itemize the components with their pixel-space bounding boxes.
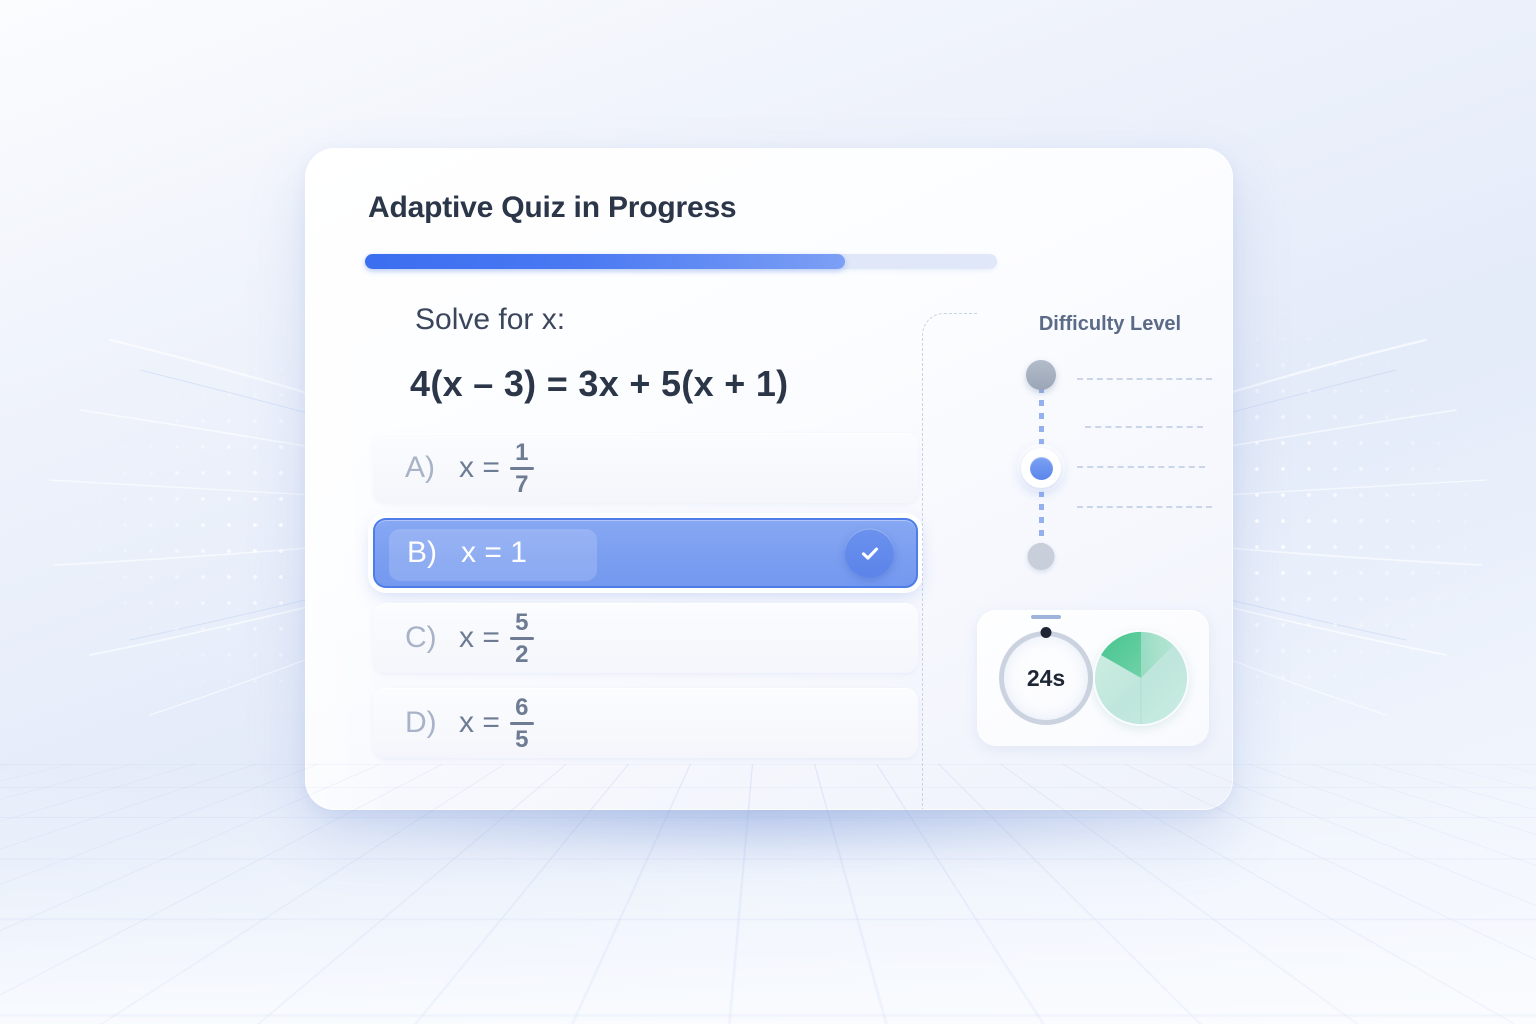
option-letter-a: A) bbox=[405, 451, 459, 485]
answer-options-list: A) x = 1 7 B) x = 1 bbox=[373, 433, 918, 773]
option-lhs-a: x = bbox=[459, 451, 500, 485]
answer-option-c[interactable]: C) x = 5 2 bbox=[373, 603, 918, 673]
difficulty-level-title: Difficulty Level bbox=[1010, 313, 1210, 336]
countdown-timer: 24s bbox=[999, 631, 1093, 725]
fraction-numerator-a: 1 bbox=[515, 441, 528, 467]
fraction-a: 1 7 bbox=[510, 441, 534, 497]
option-lhs-d: x = bbox=[459, 706, 500, 740]
option-letter-d: D) bbox=[405, 706, 459, 740]
timer-value: 24s bbox=[999, 631, 1093, 725]
difficulty-node-hard[interactable] bbox=[1026, 360, 1056, 390]
question-equation: 4(x – 3) = 3x + 5(x + 1) bbox=[410, 363, 788, 405]
option-value-d: x = 6 5 bbox=[459, 695, 534, 751]
app-background: Adaptive Quiz in Progress Solve for x: 4… bbox=[0, 0, 1536, 1024]
tick-line-1 bbox=[1077, 378, 1212, 380]
answer-option-b[interactable]: B) x = 1 bbox=[373, 518, 918, 588]
option-lhs-b: x = 1 bbox=[461, 536, 527, 570]
option-letter-b: B) bbox=[407, 536, 461, 570]
fraction-denominator-d: 5 bbox=[515, 725, 528, 752]
answer-option-d[interactable]: D) x = 6 5 bbox=[373, 688, 918, 758]
answer-option-a[interactable]: A) x = 1 7 bbox=[373, 433, 918, 503]
difficulty-node-active[interactable] bbox=[1021, 448, 1061, 488]
metrics-panel: 24s bbox=[977, 610, 1209, 746]
quiz-progress-fill bbox=[365, 254, 845, 269]
fraction-numerator-d: 6 bbox=[515, 696, 528, 722]
question-prompt: Solve for x: bbox=[415, 303, 565, 337]
check-icon[interactable] bbox=[845, 529, 894, 578]
tick-line-3 bbox=[1077, 466, 1205, 468]
difficulty-slider[interactable] bbox=[1017, 360, 1065, 570]
option-value-b: x = 1 bbox=[461, 536, 527, 570]
tick-line-2 bbox=[1085, 426, 1203, 428]
panel-divider bbox=[922, 313, 977, 810]
quiz-card: Adaptive Quiz in Progress Solve for x: 4… bbox=[305, 148, 1233, 810]
difficulty-slider-knob bbox=[1030, 457, 1053, 480]
fraction-denominator-c: 2 bbox=[515, 640, 528, 667]
difficulty-tick-lines bbox=[1077, 370, 1212, 570]
difficulty-node-easy[interactable] bbox=[1028, 543, 1055, 570]
fraction-denominator-a: 7 bbox=[515, 470, 528, 497]
fraction-c: 5 2 bbox=[510, 611, 534, 667]
page-title: Adaptive Quiz in Progress bbox=[368, 191, 736, 225]
fraction-numerator-c: 5 bbox=[515, 611, 528, 637]
progress-pie-chart bbox=[1093, 630, 1189, 726]
fraction-d: 6 5 bbox=[510, 696, 534, 752]
option-value-c: x = 5 2 bbox=[459, 610, 534, 666]
quiz-progress-bar bbox=[365, 254, 997, 269]
option-value-a: x = 1 7 bbox=[459, 440, 534, 496]
option-letter-c: C) bbox=[405, 621, 459, 655]
option-lhs-c: x = bbox=[459, 621, 500, 655]
tick-line-4 bbox=[1077, 506, 1212, 508]
timer-cap-icon bbox=[1031, 615, 1061, 619]
